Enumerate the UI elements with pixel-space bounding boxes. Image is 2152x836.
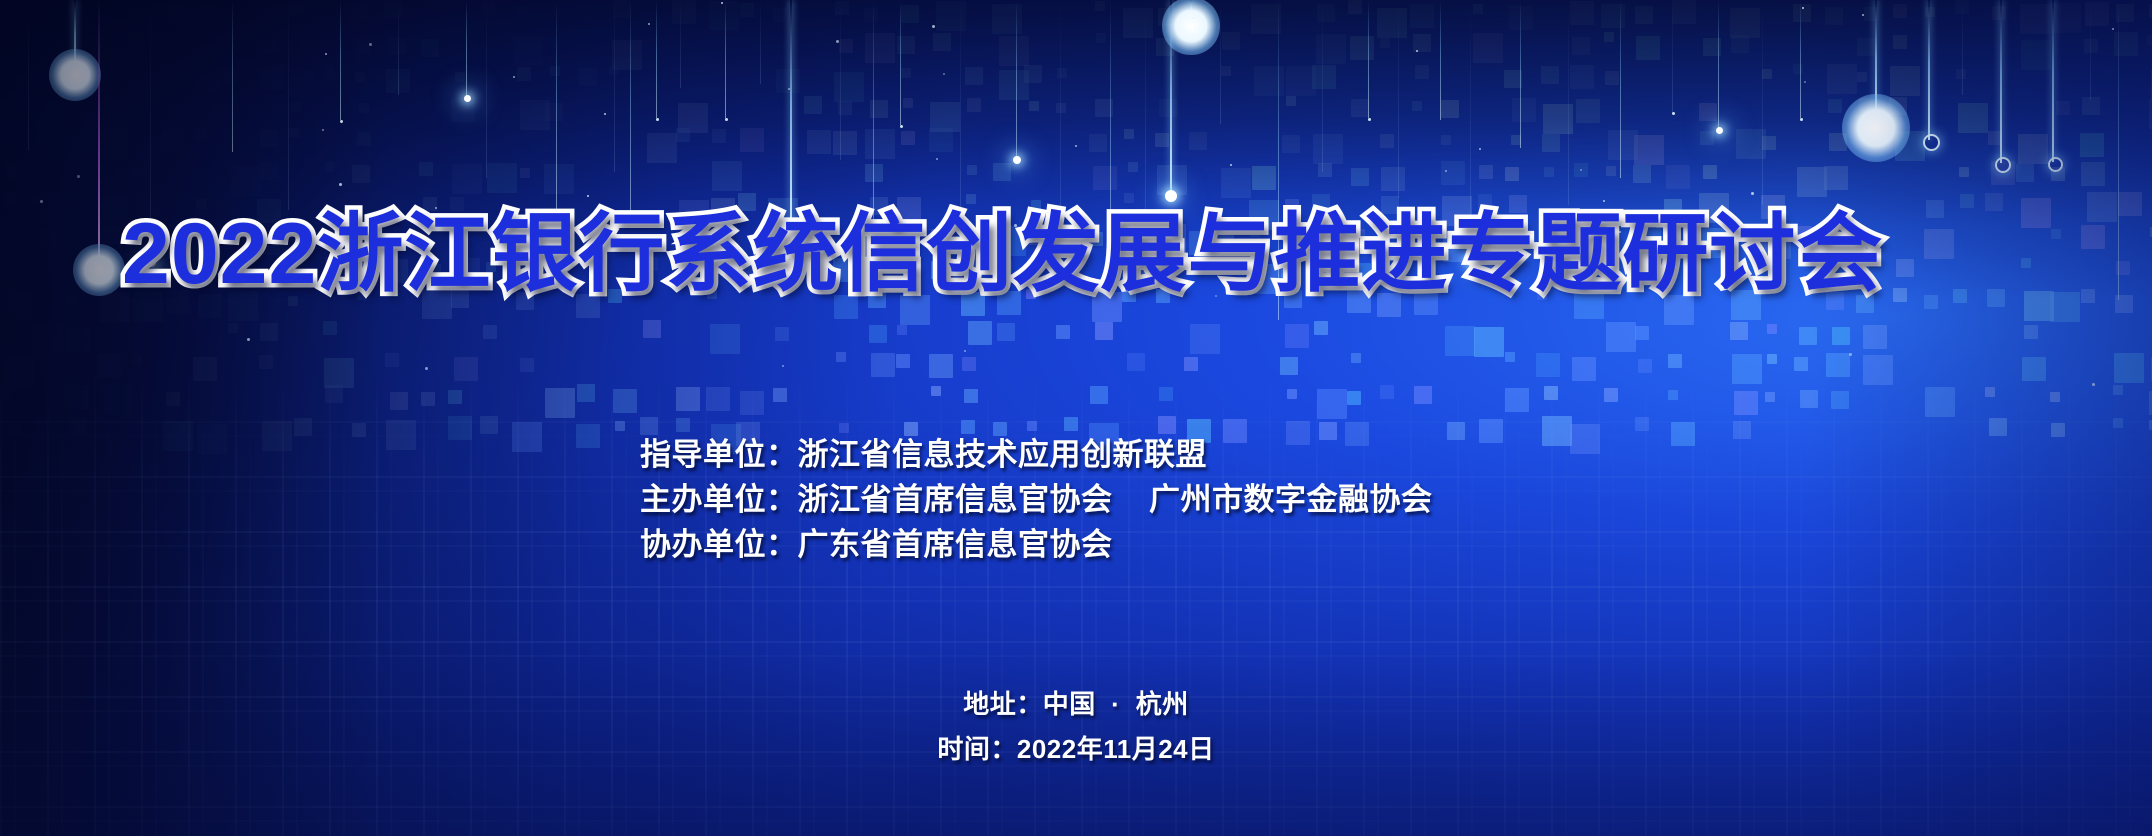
event-address: 地址：中国 · 杭州 [0,682,2152,727]
organizer-line-host: 主办单位：浙江省首席信息官协会 广州市数字金融协会 [640,477,1432,522]
organizer-block: 指导单位：浙江省信息技术应用创新联盟 主办单位：浙江省首席信息官协会 广州市数字… [640,432,1432,567]
page-title: 2022浙江银行系统信创发展与推进专题研讨会 [122,206,2052,302]
event-info-block: 地址：中国 · 杭州 时间：2022年11月24日 [0,682,2152,772]
organizer-line-guidance: 指导单位：浙江省信息技术应用创新联盟 [640,432,1432,477]
organizer-line-coorganizer: 协办单位：广东省首席信息官协会 [640,522,1432,567]
event-date: 时间：2022年11月24日 [0,727,2152,772]
event-banner: 2022浙江银行系统信创发展与推进专题研讨会 指导单位：浙江省信息技术应用创新联… [0,0,2152,836]
